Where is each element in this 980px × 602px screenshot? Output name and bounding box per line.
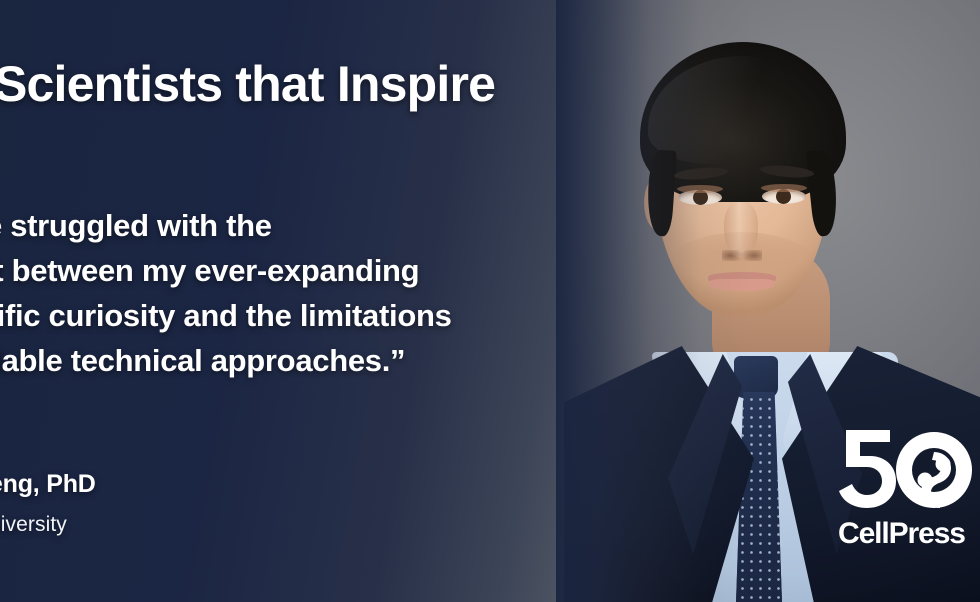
pull-quote-line: ailable technical approaches.” — [0, 338, 608, 383]
attribution-organization: a University — [0, 513, 67, 537]
page-title: Scientists that Inspire — [0, 57, 495, 111]
pull-quote-line: ict between my ever-expanding — [0, 248, 608, 293]
pull-quote-line: ntific curiosity and the limitations — [0, 293, 608, 338]
pull-quote: ve struggled with the ict between my eve… — [0, 203, 608, 383]
pull-quote-line: ve struggled with the — [0, 203, 608, 248]
scientists-that-inspire-banner: Scientists that Inspire ve struggled wit… — [0, 0, 980, 602]
cell-press-wordmark: CellPress — [838, 517, 978, 551]
attribution-name: Cheng, PhD — [0, 470, 96, 499]
